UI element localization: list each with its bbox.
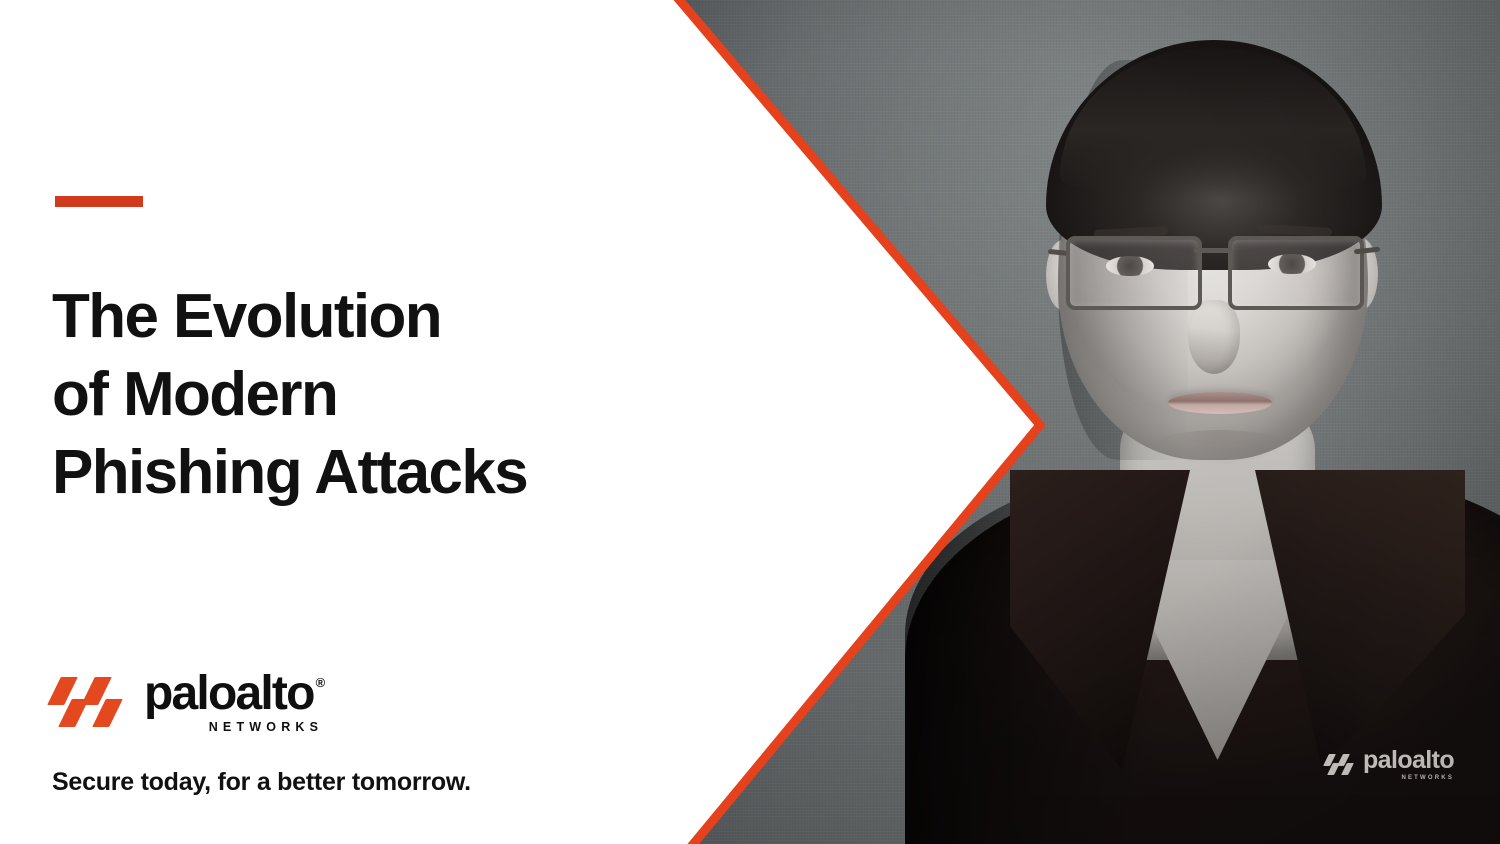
page-title-line-2: of Modern: [52, 356, 692, 434]
brand-wordmark: paloalto: [144, 672, 314, 716]
title-slide: paloalto NETWORKS The Evolution of Moder…: [0, 0, 1500, 844]
accent-bar: [55, 196, 143, 207]
brand-subtitle: NETWORKS: [144, 721, 325, 734]
registered-trademark-icon: ®: [316, 676, 326, 689]
page-title-line-3: Phishing Attacks: [52, 434, 692, 512]
page-title: The Evolution of Modern Phishing Attacks: [52, 278, 692, 512]
tagline: Secure today, for a better tomorrow.: [52, 768, 471, 797]
paloalto-mark-icon: [52, 675, 126, 731]
page-title-line-1: The Evolution: [52, 278, 692, 356]
paloalto-networks-logo: paloalto ® NETWORKS: [52, 672, 325, 734]
